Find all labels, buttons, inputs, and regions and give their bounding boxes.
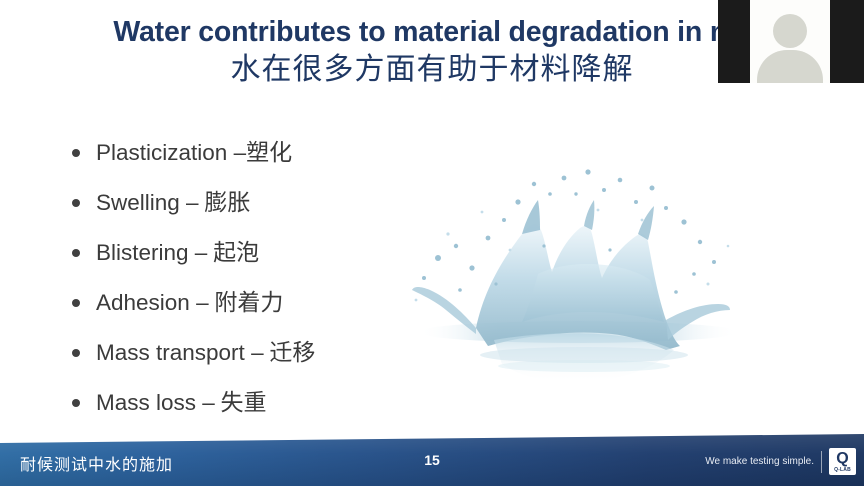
bullet-label-chinese: 塑化 bbox=[246, 140, 292, 165]
bullet-label-chinese: 膨胀 bbox=[199, 190, 251, 215]
list-item: Swelling – 膨胀 bbox=[64, 178, 444, 228]
bullet-dot-icon bbox=[72, 399, 80, 407]
bullet-separator: – bbox=[195, 240, 208, 265]
bullet-separator: – bbox=[196, 290, 209, 315]
qlab-logo-wordmark: Q-LAB bbox=[834, 467, 851, 473]
qlab-logo: Q Q-LAB bbox=[829, 448, 856, 475]
bullet-label-chinese: 起泡 bbox=[207, 240, 259, 265]
footer-divider bbox=[821, 451, 822, 473]
bullet-label-chinese: 迁移 bbox=[264, 340, 316, 365]
bullet-separator: – bbox=[186, 190, 199, 215]
bullet-separator: – bbox=[251, 340, 264, 365]
bullet-separator: – bbox=[202, 390, 215, 415]
bullet-list: Plasticization –塑化 Swelling – 膨胀 Blister… bbox=[64, 128, 444, 428]
water-splash-image bbox=[398, 150, 738, 420]
bullet-dot-icon bbox=[72, 299, 80, 307]
bullet-separator: – bbox=[234, 140, 247, 165]
webcam-frame bbox=[750, 0, 830, 83]
list-item: Blistering – 起泡 bbox=[64, 228, 444, 278]
bullet-label-english: Mass transport bbox=[96, 340, 251, 365]
bullet-label-chinese: 失重 bbox=[215, 390, 267, 415]
footer-branding: We make testing simple. Q Q-LAB bbox=[705, 448, 856, 475]
qlab-logo-letter: Q bbox=[836, 451, 848, 467]
bullet-dot-icon bbox=[72, 349, 80, 357]
footer-tagline: We make testing simple. bbox=[705, 456, 814, 467]
webcam-video-overlay[interactable] bbox=[718, 0, 864, 83]
bullet-label-english: Blistering bbox=[96, 240, 195, 265]
presentation-slide: Water contributes to material degradatio… bbox=[0, 0, 864, 486]
list-item: Plasticization –塑化 bbox=[64, 128, 444, 178]
bullet-dot-icon bbox=[72, 149, 80, 157]
list-item: Adhesion – 附着力 bbox=[64, 278, 444, 328]
bullet-label-english: Mass loss bbox=[96, 390, 202, 415]
bullet-dot-icon bbox=[72, 199, 80, 207]
list-item: Mass loss – 失重 bbox=[64, 378, 444, 428]
person-silhouette-icon bbox=[773, 14, 807, 48]
bullet-label-english: Plasticization bbox=[96, 140, 234, 165]
bullet-dot-icon bbox=[72, 249, 80, 257]
list-item: Mass transport – 迁移 bbox=[64, 328, 444, 378]
bullet-label-chinese: 附着力 bbox=[209, 290, 284, 315]
person-silhouette-body-icon bbox=[757, 50, 823, 83]
bullet-label-english: Swelling bbox=[96, 190, 186, 215]
slide-footer: 耐候测试中水的施加 15 We make testing simple. Q Q… bbox=[0, 434, 864, 486]
bullet-label-english: Adhesion bbox=[96, 290, 196, 315]
